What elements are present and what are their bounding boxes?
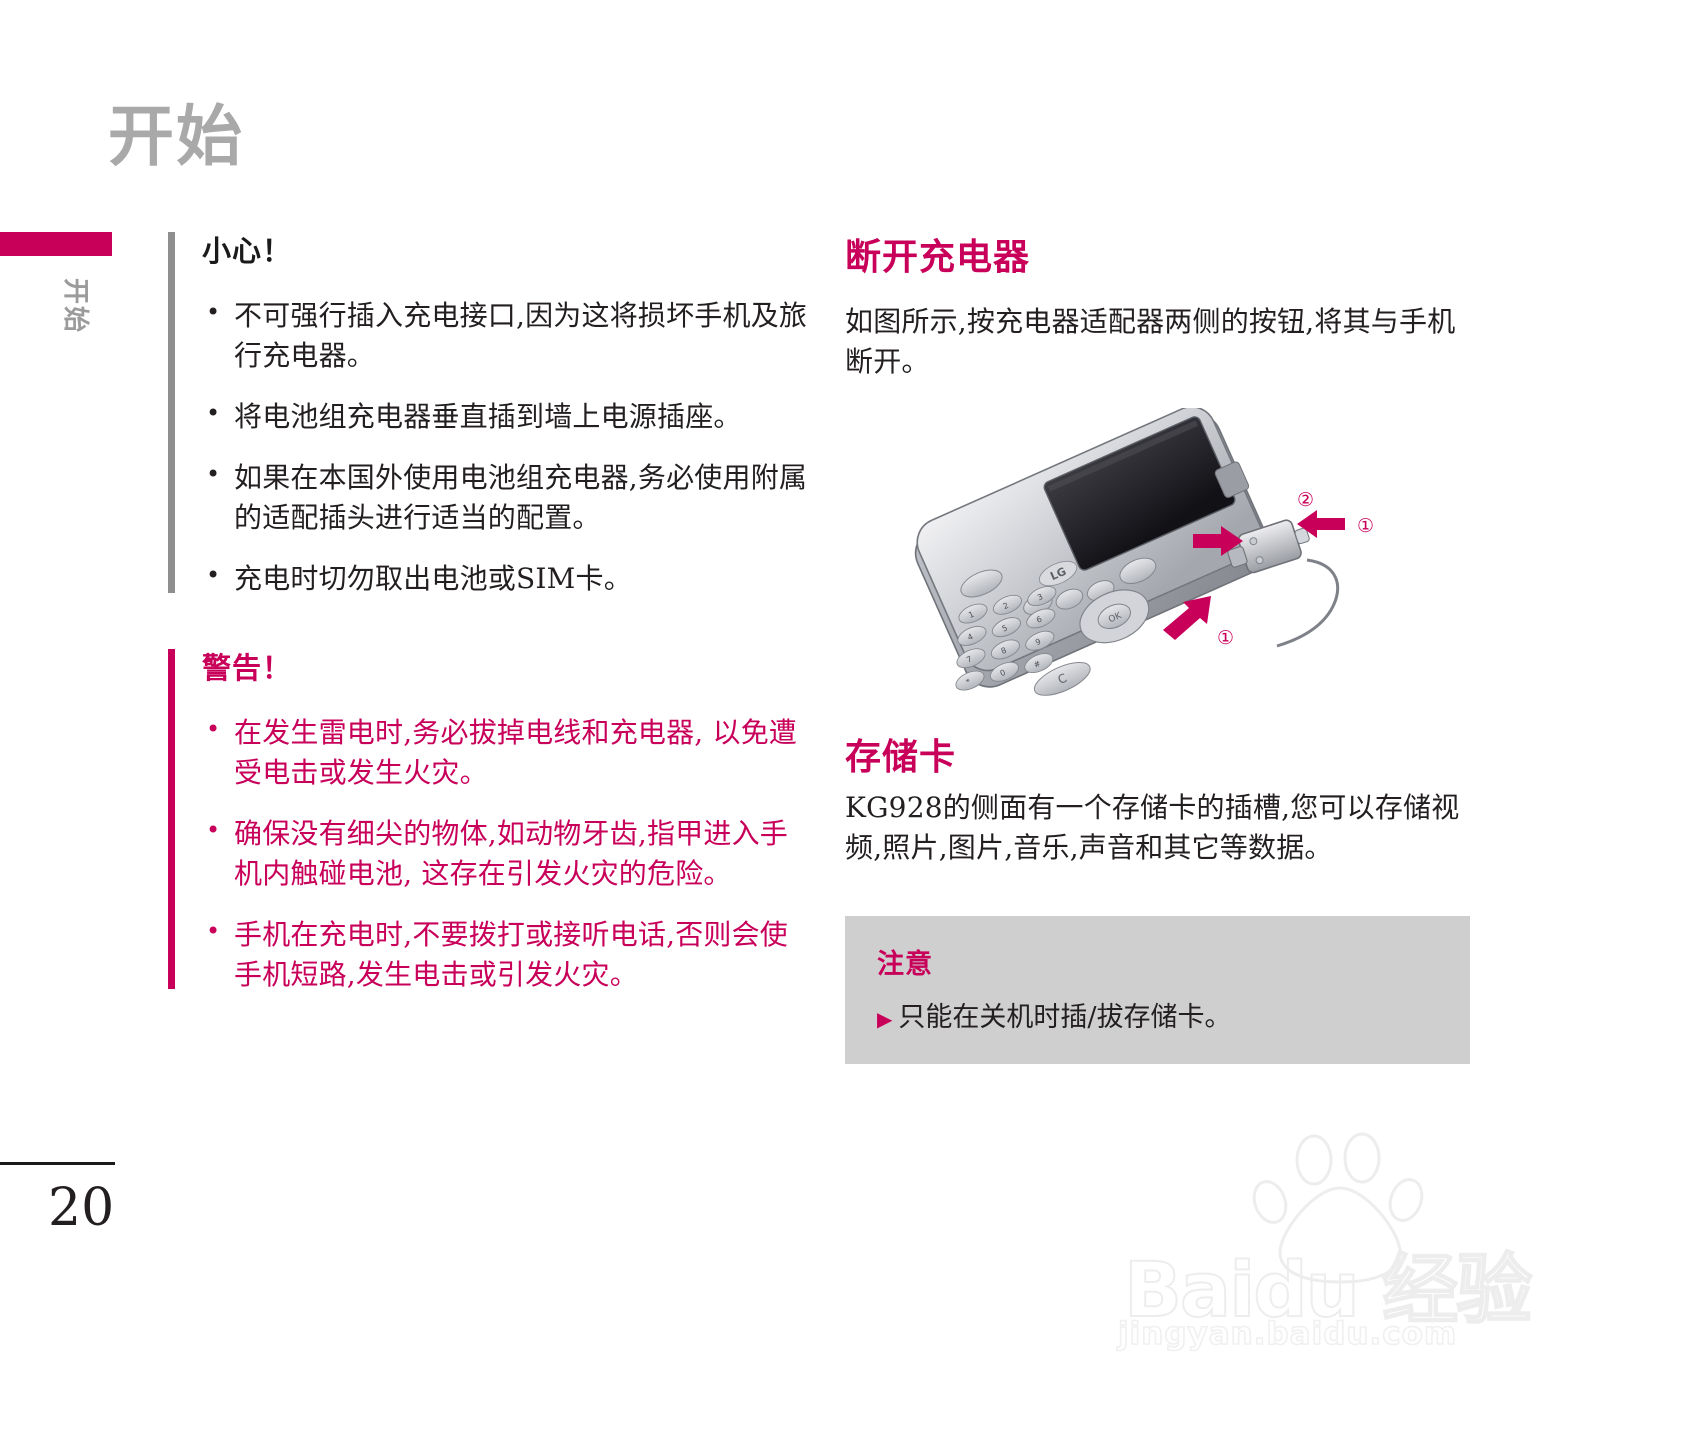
memory-card-section: 存储卡 KG928的侧面有一个存储卡的插槽,您可以存储视频,照片,图片,音乐,声… [845,728,1470,868]
note-title: 注意 [877,942,1438,981]
list-item: 不可强行插入充电接口,因为这将损坏手机及旅行充电器。 [202,296,808,376]
baidu-paw-icon [1118,1128,1598,1308]
page-title: 开始 [108,104,244,170]
note-box: 注意 ▶ 只能在关机时插/拔存储卡。 [845,916,1470,1064]
phone-charger-illustration: LG OK [845,408,1470,708]
page-number: 20 [48,1178,114,1238]
section-tab-bar [0,232,112,256]
disconnect-charger-section: 断开充电器 如图所示,按充电器适配器两侧的按钮,将其与手机断开。 [845,228,1470,382]
baidu-watermark: Baidu 经验 jingyan.baidu.com [1118,1128,1598,1308]
warning-bullet-list: 在发生雷电时,务必拔掉电线和充电器, 以免遭受电击或发生火灾。 确保没有细尖的物… [202,713,808,995]
list-item: 如果在本国外使用电池组充电器,务必使用附属的适配插头进行适当的配置。 [202,458,808,538]
callout-one-label: ① [1357,515,1374,537]
warning-heading: 警告！ [202,645,808,687]
warning-block: 警告！ 在发生雷电时,务必拔掉电线和充电器, 以免遭受电击或发生火灾。 确保没有… [168,645,808,995]
triangle-right-icon: ▶ [877,1009,892,1029]
watermark-url: jingyan.baidu.com [1118,1316,1457,1352]
caution-block: 小心！ 不可强行插入充电接口,因为这将损坏手机及旅行充电器。 将电池组充电器垂直… [168,228,808,599]
list-item: 将电池组充电器垂直插到墙上电源插座。 [202,397,808,437]
list-item: 充电时切勿取出电池或SIM卡。 [202,559,808,599]
left-column: 小心！ 不可强行插入充电接口,因为这将损坏手机及旅行充电器。 将电池组充电器垂直… [168,228,808,1016]
section-tab-label: 开始 [56,278,96,398]
memory-card-body: KG928的侧面有一个存储卡的插槽,您可以存储视频,照片,图片,音乐,声音和其它… [845,788,1470,868]
list-item: 确保没有细尖的物体,如动物牙齿,指甲进入手机内触碰电池, 这存在引发火灾的危险。 [202,814,808,894]
caution-heading: 小心！ [202,228,808,270]
note-item: ▶ 只能在关机时插/拔存储卡。 [877,995,1438,1034]
list-item: 在发生雷电时,务必拔掉电线和充电器, 以免遭受电击或发生火灾。 [202,713,808,793]
watermark-brand: Baidu 经验 [1124,1228,1530,1338]
list-item: 手机在充电时,不要拨打或接听电话,否则会使手机短路,发生电击或引发火灾。 [202,915,808,995]
svg-text:①: ① [1217,627,1234,649]
memory-card-heading: 存储卡 [845,728,1470,780]
footer-rule [0,1162,115,1165]
disconnect-charger-heading: 断开充电器 [845,228,1470,280]
callout-two-label: ② [1297,489,1314,511]
note-text: 只能在关机时插/拔存储卡。 [898,995,1231,1034]
right-column: 断开充电器 如图所示,按充电器适配器两侧的按钮,将其与手机断开。 [845,228,1470,1064]
caution-bullet-list: 不可强行插入充电接口,因为这将损坏手机及旅行充电器。 将电池组充电器垂直插到墙上… [202,296,808,599]
disconnect-charger-body: 如图所示,按充电器适配器两侧的按钮,将其与手机断开。 [845,302,1470,382]
phone-illustration-svg: LG OK [845,408,1470,708]
